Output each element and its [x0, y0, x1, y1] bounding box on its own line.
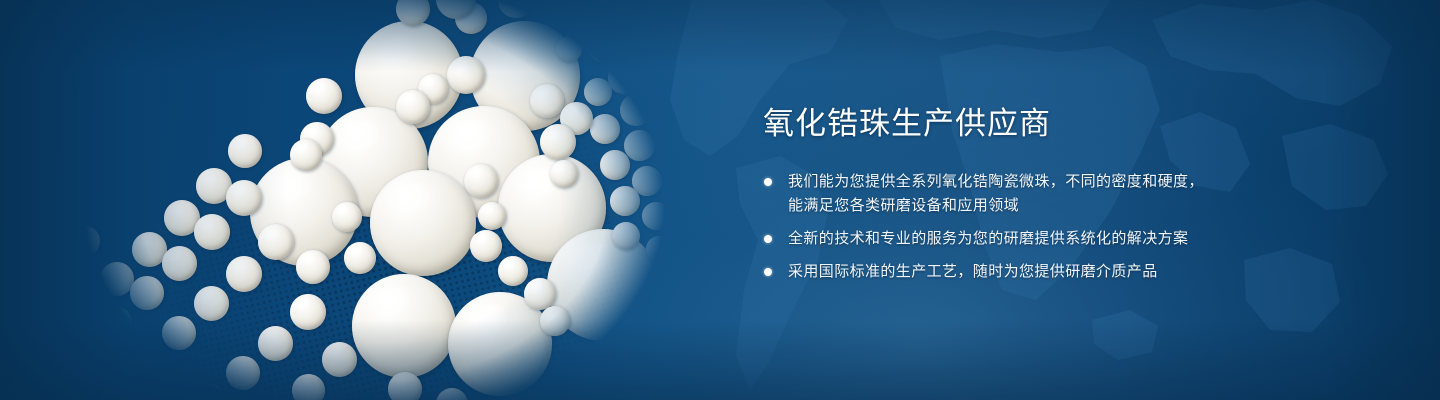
list-item-line: 全新的技术和专业的服务为您的研磨提供系统化的解决方案	[788, 227, 1283, 251]
hero-banner: 氧化锆珠生产供应商 我们能为您提供全系列氧化锆陶瓷微珠，不同的密度和硬度， 能满…	[0, 0, 1440, 400]
bullet-dot-icon	[764, 235, 772, 243]
list-item-line: 能满足您各类研磨设备和应用领域	[788, 194, 1283, 218]
list-item-line: 我们能为您提供全系列氧化锆陶瓷微珠，不同的密度和硬度，	[788, 170, 1283, 194]
banner-copy: 氧化锆珠生产供应商 我们能为您提供全系列氧化锆陶瓷微珠，不同的密度和硬度， 能满…	[763, 104, 1283, 284]
bullet-dot-icon	[764, 268, 772, 276]
feature-list: 我们能为您提供全系列氧化锆陶瓷微珠，不同的密度和硬度， 能满足您各类研磨设备和应…	[763, 170, 1283, 284]
list-item: 采用国际标准的生产工艺，随时为您提供研磨介质产品	[763, 260, 1283, 284]
list-item: 我们能为您提供全系列氧化锆陶瓷微珠，不同的密度和硬度， 能满足您各类研磨设备和应…	[763, 170, 1283, 218]
list-item-line: 采用国际标准的生产工艺，随时为您提供研磨介质产品	[788, 260, 1283, 284]
list-item: 全新的技术和专业的服务为您的研磨提供系统化的解决方案	[763, 227, 1283, 251]
page-title: 氧化锆珠生产供应商	[763, 104, 1283, 144]
bullet-dot-icon	[764, 178, 772, 186]
